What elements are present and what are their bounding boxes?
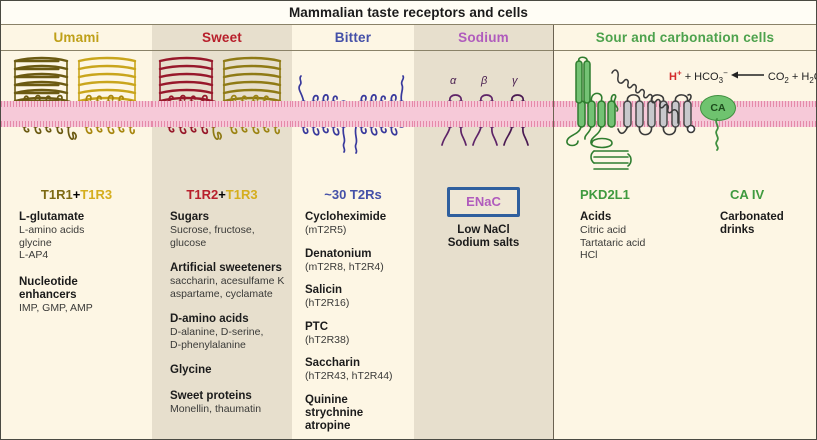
enac-box-wrapper: ENaC (414, 187, 553, 217)
pkd2l1-pkd1l3-complex-svg (554, 51, 816, 179)
diagram-bitter-receptors (292, 51, 414, 179)
diagram-sweet-receptor (152, 51, 292, 179)
ligand-group: Artificial sweeteners saccharin, acesulf… (170, 262, 292, 300)
sour-entry-ca4: CA IV Carbonated drinks (720, 187, 816, 270)
column-bitter: Bitter (292, 25, 414, 440)
ligand-group: L-glutamate L-amino acids glycine L-AP4 (19, 211, 152, 262)
column-header-label: Sour and carbonation cells (596, 30, 775, 45)
membrane-bilayer (292, 101, 414, 127)
subunit-label-alpha: α (450, 75, 456, 87)
receptor-name-umami: T1R1+T1R3 (1, 187, 152, 202)
ligand-group: PTC (hT2R38) (305, 321, 414, 347)
ligand-bold: L-glutamate (19, 211, 152, 224)
ligand-group: Salicin (hT2R16) (305, 284, 414, 310)
figure-panel: Mammalian taste receptors and cells Umam… (0, 0, 817, 440)
columns-container: Umami (1, 25, 816, 440)
ligand-sub: HCl (580, 249, 720, 262)
enac-highlight-box: ENaC (447, 187, 520, 217)
ligand-bold: Carbonated drinks (720, 211, 816, 237)
ligand-bold: Glycine (170, 364, 292, 377)
umami-text-block: T1R1+T1R3 L-glutamate L-amino acids glyc… (1, 179, 152, 314)
column-header-sour: Sour and carbonation cells (554, 25, 816, 51)
figure-title-bar: Mammalian taste receptors and cells (1, 1, 816, 25)
ligand-bold: strychnine (305, 407, 414, 420)
ligand-bold: Saccharin (305, 357, 414, 370)
ligand-bold: Quinine (305, 394, 414, 407)
column-header-label: Bitter (335, 30, 371, 45)
ligand-bold: PTC (305, 321, 414, 334)
ligand-bold: Artificial sweeteners (170, 262, 292, 275)
figure-title: Mammalian taste receptors and cells (289, 5, 528, 20)
ligand-sub: IMP, GMP, AMP (19, 302, 152, 315)
ligand-bold: D-amino acids (170, 313, 292, 326)
ligand-group: D-amino acids D-alanine, D-serine, D-phe… (170, 313, 292, 351)
receptor-name-pkd2l1: PKD2L1 (580, 187, 720, 202)
ligand-sub: (hT2R16) (305, 297, 414, 310)
ligand-group: Cycloheximide (mT2R5) (305, 211, 414, 237)
diagram-enac-channel: α β γ (414, 51, 553, 179)
ligand-sub: saccharin, acesulfame K (170, 275, 292, 288)
ligand-bold: atropine (305, 420, 414, 433)
column-header-label: Sweet (202, 30, 242, 45)
sodium-text-block: ENaC Low NaCl Sodium salts (414, 179, 553, 250)
column-header-umami: Umami (1, 25, 152, 51)
membrane-bilayer (1, 101, 152, 127)
ligand-sub: aspartame, cyclamate (170, 288, 292, 301)
sweet-text-block: T1R2+T1R3 Sugars Sucrose, fructose, gluc… (152, 179, 292, 416)
diagram-sour-carbonation-cells: H+ + HCO3− CO2 + H2O CA (554, 51, 816, 179)
ligand-sub: glucose (170, 237, 292, 250)
ligand-group: Nucleotide enhancers IMP, GMP, AMP (19, 276, 152, 315)
column-header-sweet: Sweet (152, 25, 292, 51)
receptor-name-ca4: CA IV (720, 187, 816, 202)
ligand-sub: Sucrose, fructose, (170, 224, 292, 237)
receptor-name-bitter: ~30 T2Rs (292, 187, 414, 202)
column-header-label: Umami (53, 30, 99, 45)
membrane-bilayer (414, 101, 553, 127)
ligand-sub: D-alanine, D-serine, (170, 326, 292, 339)
membrane-bilayer (152, 101, 292, 127)
ligand-sub: Monellin, thaumatin (170, 403, 292, 416)
ligand-group: Denatonium (mT2R8, hT2R4) (305, 248, 414, 274)
ligand-sub: L-AP4 (19, 249, 152, 262)
sour-entry-pkd2l1: PKD2L1 Acids Citric acid Tartataric acid… (554, 187, 720, 270)
sour-text-block: PKD2L1 Acids Citric acid Tartataric acid… (554, 179, 816, 270)
ligand-sub: (mT2R8, hT2R4) (305, 261, 414, 274)
diagram-umami-receptor (1, 51, 152, 179)
ligand-group: Quinine strychnine atropine (305, 394, 414, 433)
bitter-text-block: ~30 T2Rs Cycloheximide (mT2R5) Denatoniu… (292, 179, 414, 433)
column-header-sodium: Sodium (414, 25, 553, 51)
ligand-group: Carbonated drinks (720, 211, 816, 237)
column-header-label: Sodium (458, 30, 509, 45)
ligand-bold: Low NaCl (414, 224, 553, 237)
ligand-group: Saccharin (hT2R43, hT2R44) (305, 357, 414, 383)
ligand-sub: glycine (19, 237, 152, 250)
ligand-bold: Nucleotide (19, 276, 152, 289)
subunit-label-gamma: γ (512, 75, 518, 87)
ligand-sub: D-phenylalanine (170, 339, 292, 352)
ligand-sub: (hT2R38) (305, 334, 414, 347)
ligand-group: Sugars Sucrose, fructose, glucose (170, 211, 292, 249)
ligand-bold: Sugars (170, 211, 292, 224)
ligand-sub: (hT2R43, hT2R44) (305, 370, 414, 383)
column-umami: Umami (1, 25, 152, 440)
ligand-sub: L-amino acids (19, 224, 152, 237)
ligand-sub: Citric acid (580, 224, 720, 237)
column-sodium: Sodium α β γ (414, 25, 554, 440)
ligand-bold: Cycloheximide (305, 211, 414, 224)
ligand-bold: Sweet proteins (170, 390, 292, 403)
ligand-group: Low NaCl Sodium salts (414, 224, 553, 250)
ligand-group: Acids Citric acid Tartataric acid HCl (580, 211, 720, 262)
receptor-name-sweet: T1R2+T1R3 (152, 187, 292, 202)
ligand-group: Sweet proteins Monellin, thaumatin (170, 390, 292, 416)
ligand-sub: Tartataric acid (580, 237, 720, 250)
ligand-bold: enhancers (19, 289, 152, 302)
ligand-bold: Salicin (305, 284, 414, 297)
column-header-bitter: Bitter (292, 25, 414, 51)
ligand-bold: Acids (580, 211, 720, 224)
column-sour: Sour and carbonation cells H+ + HCO3− CO… (554, 25, 816, 440)
column-sweet: Sweet (152, 25, 292, 440)
ligand-bold: Sodium salts (414, 237, 553, 250)
receptor-name-enac: ENaC (466, 194, 501, 209)
subunit-label-beta: β (481, 75, 487, 87)
ligand-group: Glycine (170, 364, 292, 377)
ligand-bold: Denatonium (305, 248, 414, 261)
ligand-sub: (mT2R5) (305, 224, 414, 237)
